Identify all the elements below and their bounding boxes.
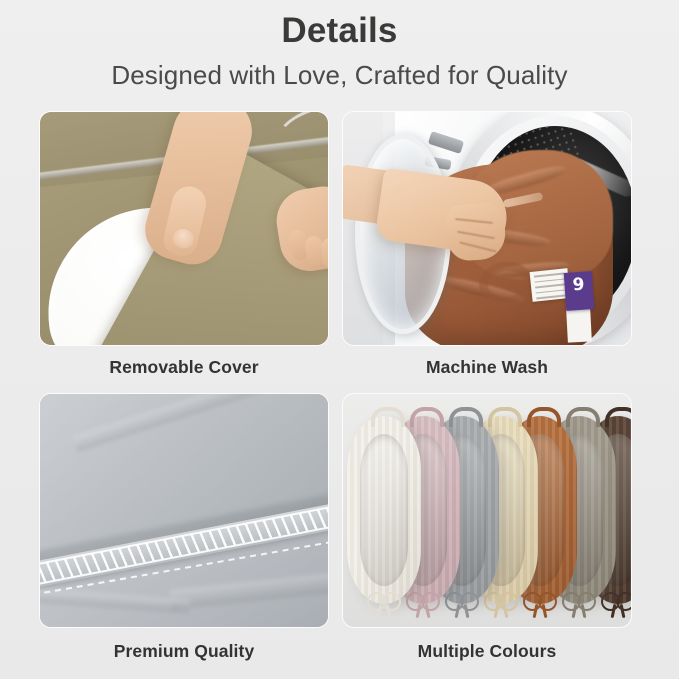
colour-nest-ivory-white <box>347 416 421 604</box>
feature-card-premium-quality: Premium Quality <box>40 394 328 662</box>
photo-multiple-colours <box>343 394 631 627</box>
feature-grid: Removable Cover <box>40 112 640 662</box>
nest-drawstring-bow <box>562 592 596 618</box>
photo-premium-quality <box>40 394 328 627</box>
nest-drawstring-bow <box>523 592 557 618</box>
photo-removable-cover <box>40 112 328 345</box>
feature-card-multiple-colours: Multiple Colours <box>343 394 631 662</box>
label-tail <box>566 307 592 342</box>
feature-caption: Premium Quality <box>40 627 328 662</box>
nest-drawstring-bow <box>367 592 401 618</box>
nest-carry-handle <box>527 407 561 427</box>
header: Details Designed with Love, Crafted for … <box>0 0 679 91</box>
nest-drawstring-bow <box>484 592 518 618</box>
nest-drawstring-bow <box>601 592 631 618</box>
nest-carry-handle <box>449 407 483 427</box>
brand-tag: 9 <box>564 271 595 311</box>
feature-card-machine-wash: 9 Machine Wash <box>343 112 631 378</box>
feature-card-removable-cover: Removable Cover <box>40 112 328 378</box>
feature-caption: Multiple Colours <box>343 627 631 662</box>
photo-machine-wash: 9 <box>343 112 631 345</box>
nest-carry-handle <box>488 407 522 427</box>
details-infographic: Details Designed with Love, Crafted for … <box>0 0 679 679</box>
nest-inner-mattress <box>360 434 408 586</box>
page-subtitle: Designed with Love, Crafted for Quality <box>0 54 679 91</box>
nest-carry-handle <box>566 407 600 427</box>
nest-carry-handle <box>605 407 631 427</box>
nest-carry-handle <box>410 407 444 427</box>
feature-caption: Machine Wash <box>343 345 631 378</box>
nest-drawstring-bow <box>406 592 440 618</box>
nest-drawstring-bow <box>445 592 479 618</box>
feature-caption: Removable Cover <box>40 345 328 378</box>
page-title: Details <box>0 8 679 54</box>
nest-carry-handle <box>371 407 405 427</box>
